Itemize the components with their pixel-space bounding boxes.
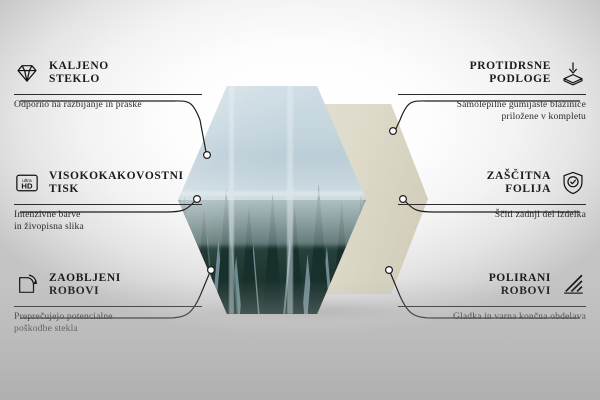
shield-check-icon <box>560 170 586 196</box>
feature-subtitle: Ščiti zadnji del izdelka <box>398 209 586 221</box>
feature-header: ultra HD VISOKOKAKOVOSTNI TISK <box>14 166 202 200</box>
polished-edge-icon <box>560 272 586 298</box>
mount-dot <box>407 126 412 131</box>
rounded-corner-icon <box>14 272 40 298</box>
feature-subtitle: Intenzivne barve in živopisna slika <box>14 209 202 232</box>
divider <box>398 204 586 205</box>
ultra-hd-icon: ultra HD <box>14 170 40 196</box>
feature-title: ZAŠČITNA FOLIJA <box>487 170 551 197</box>
feature-title: VISOKOKAKOVOSTNI TISK <box>49 170 184 197</box>
feature-header: ZAŠČITNA FOLIJA <box>398 166 586 200</box>
divider <box>14 306 202 307</box>
feature-header: PROTIDRSNE PODLOGE <box>398 56 586 90</box>
feature-title: PROTIDRSNE PODLOGE <box>470 60 551 87</box>
feature-header: ZAOBLJENI ROBOVI <box>14 268 202 302</box>
divider <box>398 306 586 307</box>
feature-visokokakovostni-tisk[interactable]: ultra HD VISOKOKAKOVOSTNI TISK Intenzivn… <box>14 166 202 232</box>
feature-title: KALJENO STEKLO <box>49 60 109 87</box>
feature-polirani-robovi[interactable]: POLIRANI ROBOVI Gladka in varna končna o… <box>398 268 586 323</box>
feature-header: POLIRANI ROBOVI <box>398 268 586 302</box>
feature-zaobljeni-robovi[interactable]: ZAOBLJENI ROBOVI Preprečujejo potencialn… <box>14 268 202 334</box>
feature-subtitle: Odporno na razbijanje in praske <box>14 99 202 111</box>
feature-title: ZAOBLJENI ROBOVI <box>49 272 121 299</box>
feature-subtitle: Preprečujejo potencialne poškodbe stekla <box>14 311 202 334</box>
feature-kaljeno-steklo[interactable]: KALJENO STEKLO Odporno na razbijanje in … <box>14 56 202 111</box>
svg-text:HD: HD <box>21 182 33 191</box>
divider <box>14 94 202 95</box>
feature-title: POLIRANI ROBOVI <box>489 272 551 299</box>
anti-slip-pad-icon <box>560 60 586 86</box>
feature-protidrsne-podloge[interactable]: PROTIDRSNE PODLOGE Samolepilne gumijaste… <box>398 56 586 122</box>
feature-subtitle: Samolepilne gumijaste blazinice priložen… <box>398 99 586 122</box>
divider <box>398 94 586 95</box>
diamond-icon <box>14 60 40 86</box>
feature-header: KALJENO STEKLO <box>14 56 202 90</box>
feature-zascitna-folija[interactable]: ZAŠČITNA FOLIJA Ščiti zadnji del izdelka <box>398 166 586 221</box>
divider <box>14 204 202 205</box>
product-feature-infographic: KALJENO STEKLO Odporno na razbijanje in … <box>0 0 600 400</box>
feature-subtitle: Gladka in varna končna obdelava <box>398 311 586 323</box>
